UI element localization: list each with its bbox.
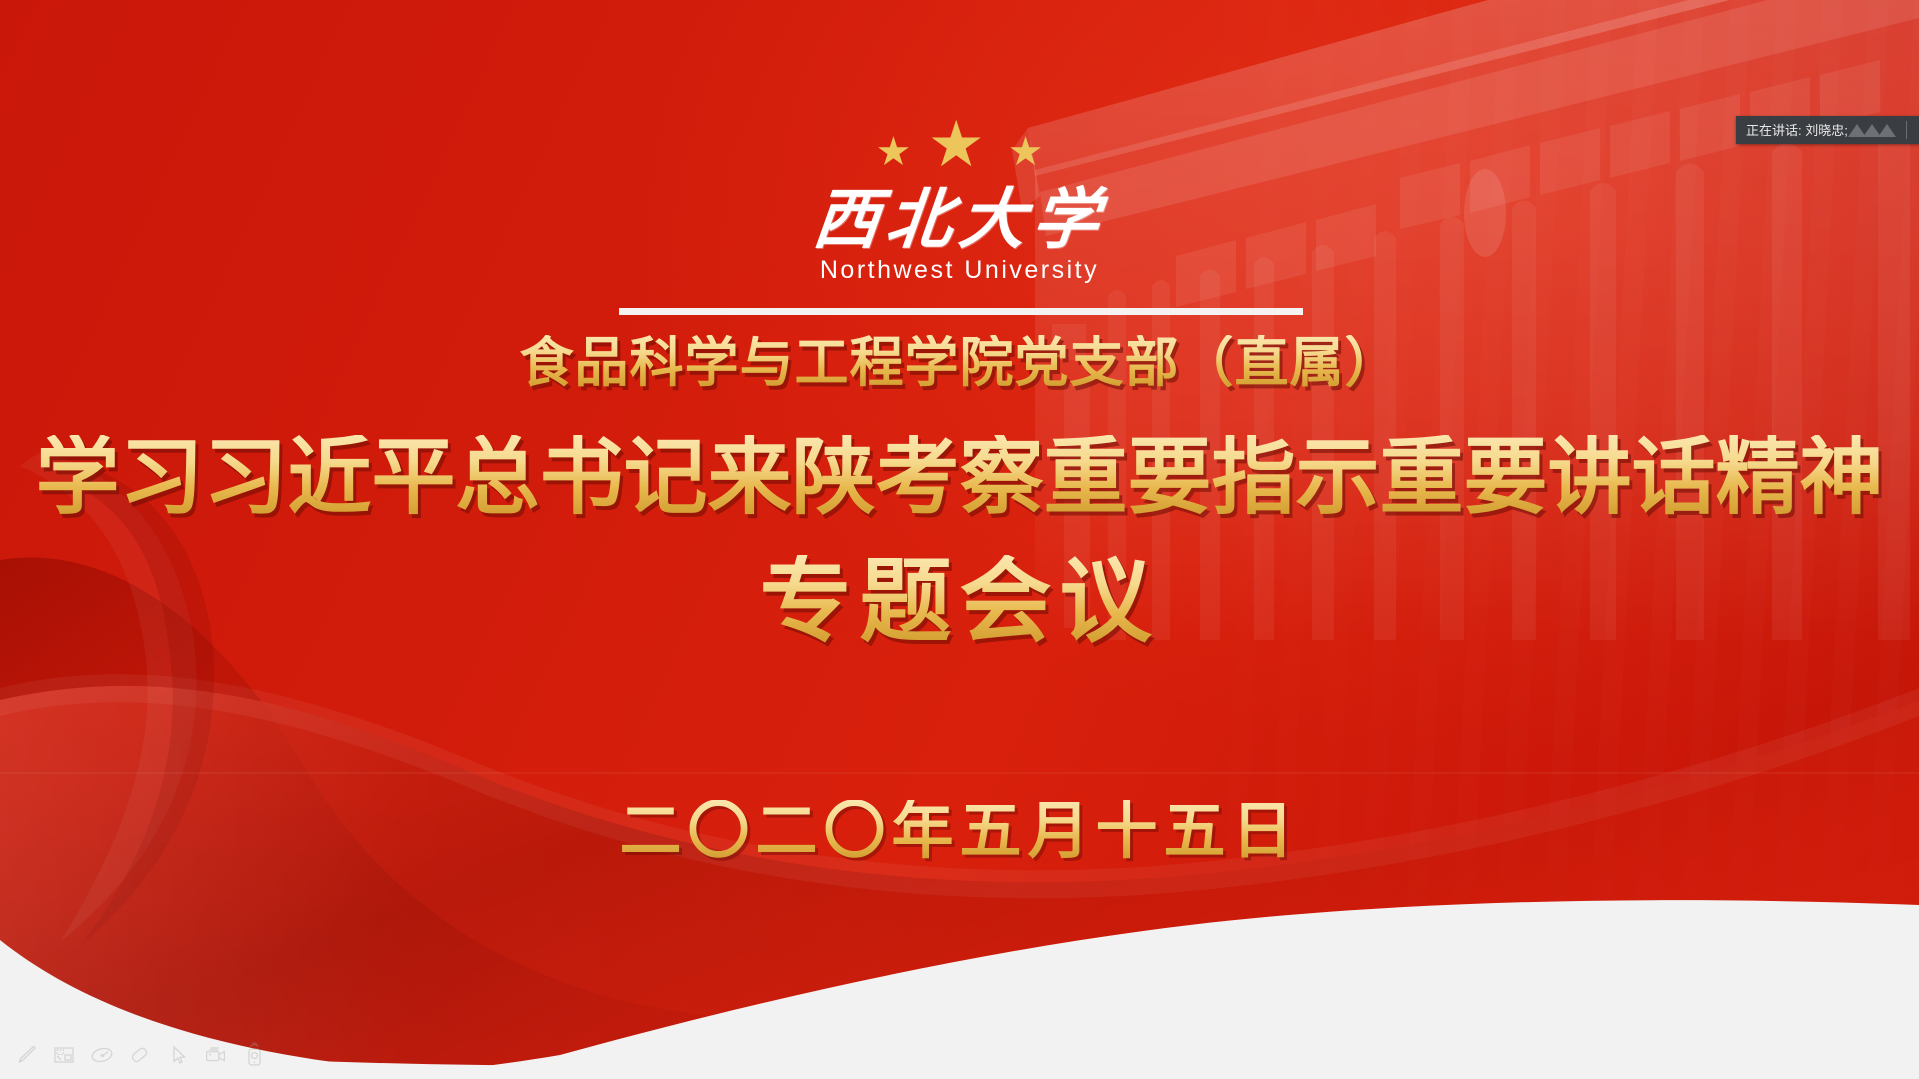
eraser-icon[interactable] xyxy=(126,1041,154,1069)
speaking-status-toolbar[interactable]: 正在讲话: 刘晓忠; ↰ xyxy=(1736,116,1919,144)
annotation-toolbar[interactable] xyxy=(0,1031,268,1079)
star-icon-center: ★ xyxy=(928,112,985,176)
cursor-arrow-icon[interactable] xyxy=(164,1041,192,1069)
presentation-slide: ★ ★ ★ 西北大学 Northwest University 食品科学与工程学… xyxy=(0,0,1919,1079)
header-divider xyxy=(619,308,1303,315)
three-stars-icon: ★ ★ ★ xyxy=(860,112,1060,176)
remote-control-icon[interactable] xyxy=(240,1041,268,1069)
star-icon-left: ★ xyxy=(876,132,912,172)
audio-wave-icon xyxy=(1851,124,1896,137)
organization-title: 食品科学与工程学院党支部（直属） xyxy=(0,335,1919,389)
logo-name-chinese: 西北大学 xyxy=(0,186,1919,252)
screen: ★ ★ ★ 西北大学 Northwest University 食品科学与工程学… xyxy=(0,0,1919,1079)
main-title: 学习习近平总书记来陕考察重要指示重要讲话精神 xyxy=(0,435,1919,519)
toolbar-separator xyxy=(1906,121,1907,139)
logo-name-english: Northwest University xyxy=(0,258,1919,283)
meeting-date: 二〇二〇年五月十五日 xyxy=(0,800,1919,862)
laser-pointer-icon[interactable] xyxy=(88,1041,116,1069)
whiteboard-icon[interactable] xyxy=(50,1041,78,1069)
star-icon-right: ★ xyxy=(1008,132,1044,172)
pen-icon[interactable] xyxy=(12,1041,40,1069)
subtitle: 专题会议 xyxy=(0,555,1919,647)
speaking-status-label: 正在讲话: 刘晓忠; xyxy=(1746,124,1848,137)
university-logo: ★ ★ ★ 西北大学 Northwest University xyxy=(0,112,1919,283)
video-camera-icon[interactable] xyxy=(202,1041,230,1069)
